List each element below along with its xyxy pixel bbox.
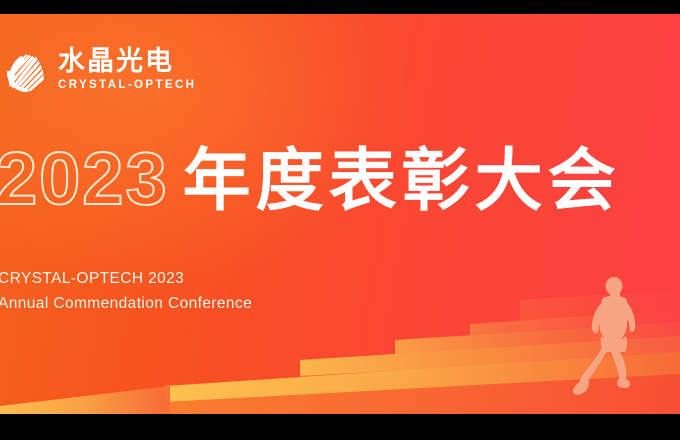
poster-artwork-stage: 水晶光电 CRYSTAL-OPTECH 2023 年度表彰大会 CRYSTAL-…: [0, 14, 680, 414]
letterbox-bar-bottom: [0, 414, 680, 440]
subtitle-line-1: CRYSTAL-OPTECH 2023: [0, 266, 252, 291]
headline-year: 2023: [0, 142, 169, 216]
running-person-silhouette-icon: [570, 276, 650, 400]
poster-subtitle: CRYSTAL-OPTECH 2023 Annual Commendation …: [0, 266, 252, 316]
brand-logo: 水晶光电 CRYSTAL-OPTECH: [2, 46, 196, 94]
brand-logo-text: 水晶光电 CRYSTAL-OPTECH: [58, 47, 196, 92]
sunburst-fan-logo-icon: [2, 46, 50, 94]
subtitle-line-2: Annual Commendation Conference: [0, 291, 252, 316]
poster-headline: 2023 年度表彰大会: [0, 142, 621, 216]
brand-name-cn: 水晶光电: [58, 47, 196, 75]
brand-name-en: CRYSTAL-OPTECH: [58, 79, 196, 93]
letterbox-bar-top: [0, 0, 680, 14]
promotional-poster: 水晶光电 CRYSTAL-OPTECH 2023 年度表彰大会 CRYSTAL-…: [0, 0, 680, 440]
headline-text-cn: 年度表彰大会: [183, 147, 621, 215]
